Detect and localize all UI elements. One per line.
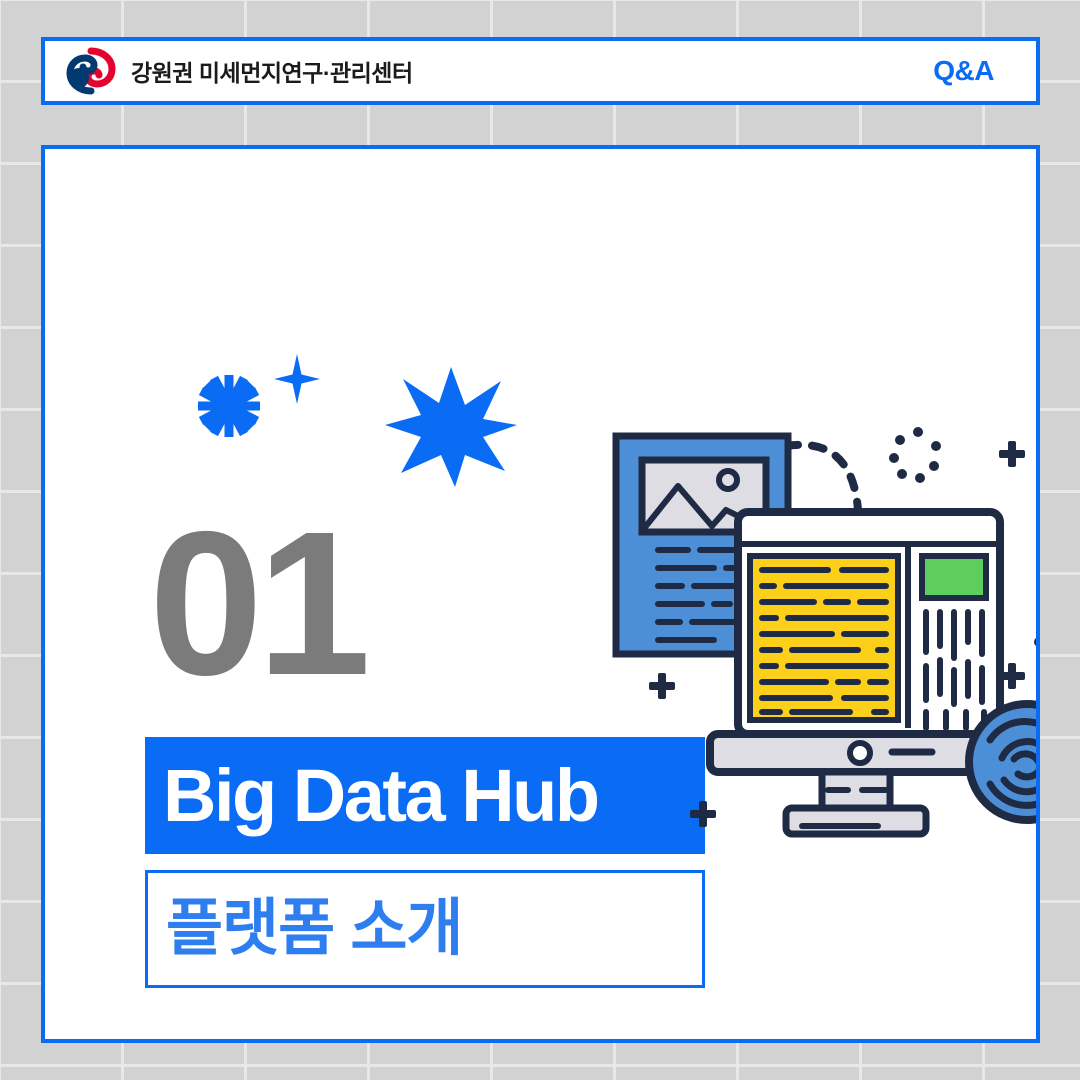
green-chart-panel-icon — [922, 556, 986, 598]
title-outline-block: 플랫폼 소개 — [145, 870, 705, 988]
title-en: Big Data Hub — [163, 759, 598, 833]
four-point-sparkle-icon — [274, 354, 320, 404]
title-ko: 플랫폼 소개 — [166, 898, 462, 960]
section-number: 01 — [149, 501, 365, 706]
dashed-arc-icon — [786, 445, 858, 510]
plus-mark-icon — [690, 801, 716, 827]
eight-point-star-icon — [385, 367, 517, 487]
dotted-circle-icon — [1034, 611, 1040, 667]
korea-government-taegeuk-logo-icon — [65, 47, 117, 95]
dotted-circle-icon — [889, 427, 941, 483]
plus-mark-icon — [649, 673, 675, 699]
twelve-spoke-burst-icon — [196, 373, 262, 439]
subtitle-line-1: 강원권미세먼지연구관리센터 — [163, 1037, 456, 1043]
content-card: 01 Big Data Hub 플랫폼 소개 강원권미세먼지연구관리센터 빅데이… — [41, 145, 1040, 1043]
plus-mark-icon — [999, 441, 1025, 467]
header-title: 강원권 미세먼지연구·관리센터 — [131, 54, 413, 88]
subtitle: 강원권미세먼지연구관리센터 빅데이터 허브 플랫폼을 소개합니다. — [163, 1037, 783, 1043]
header-bar: 강원권 미세먼지연구·관리센터 Q&A — [41, 37, 1040, 105]
big-data-monitor-illustration — [590, 414, 1040, 844]
poster-canvas: 강원권 미세먼지연구·관리센터 Q&A — [0, 0, 1080, 1080]
qa-link[interactable]: Q&A — [933, 55, 994, 87]
